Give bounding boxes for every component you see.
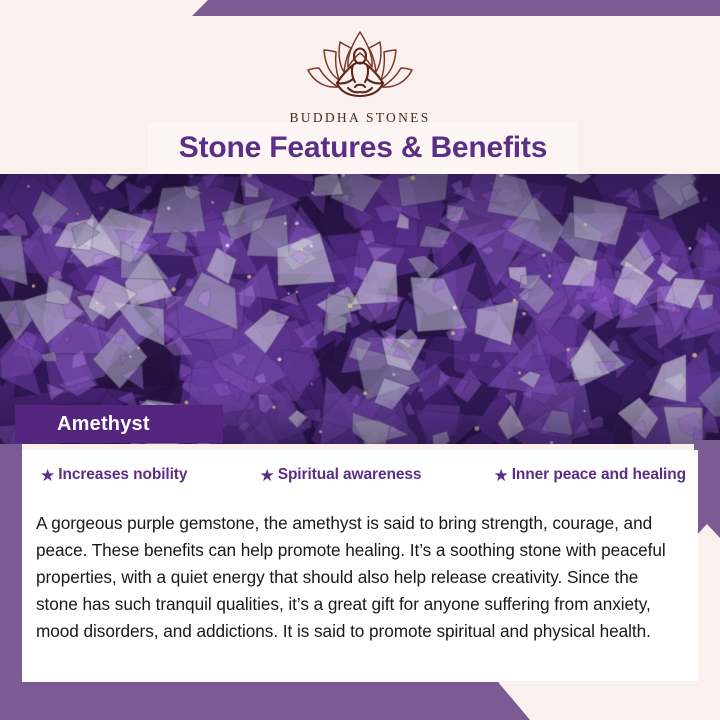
- benefit-item: ★ Spiritual awareness: [259, 466, 421, 484]
- left-purple-strip: [0, 444, 22, 682]
- benefit-label: Spiritual awareness: [278, 466, 422, 484]
- benefit-item: ★ Inner peace and healing: [493, 466, 686, 484]
- brand-logo: BUDDHA STONES: [0, 26, 720, 126]
- stone-name: Amethyst: [15, 413, 150, 436]
- stone-name-bar: Amethyst: [15, 405, 223, 443]
- hero-image: [0, 174, 720, 444]
- page-title: Stone Features & Benefits: [179, 131, 547, 165]
- amethyst-photo-canvas: [0, 174, 720, 444]
- benefit-item: ★ Increases nobility: [40, 466, 187, 484]
- benefits-list: ★ Increases nobility ★ Spiritual awarene…: [22, 450, 698, 484]
- star-icon: ★: [259, 467, 274, 484]
- title-banner: Stone Features & Benefits: [148, 122, 578, 174]
- benefit-label: Inner peace and healing: [512, 466, 686, 484]
- stone-description: A gorgeous purple gemstone, the amethyst…: [22, 501, 698, 645]
- infographic-page: BUDDHA STONES Stone Features & Benefits …: [0, 0, 720, 720]
- star-icon: ★: [493, 467, 508, 484]
- star-icon: ★: [40, 467, 55, 484]
- content-card: ★ Increases nobility ★ Spiritual awarene…: [22, 450, 698, 681]
- header-section: BUDDHA STONES Stone Features & Benefits: [0, 16, 720, 174]
- bottom-purple-band: [0, 682, 720, 720]
- lotus-meditation-icon: [296, 26, 424, 108]
- benefit-label: Increases nobility: [58, 466, 187, 484]
- top-purple-band: [0, 0, 720, 16]
